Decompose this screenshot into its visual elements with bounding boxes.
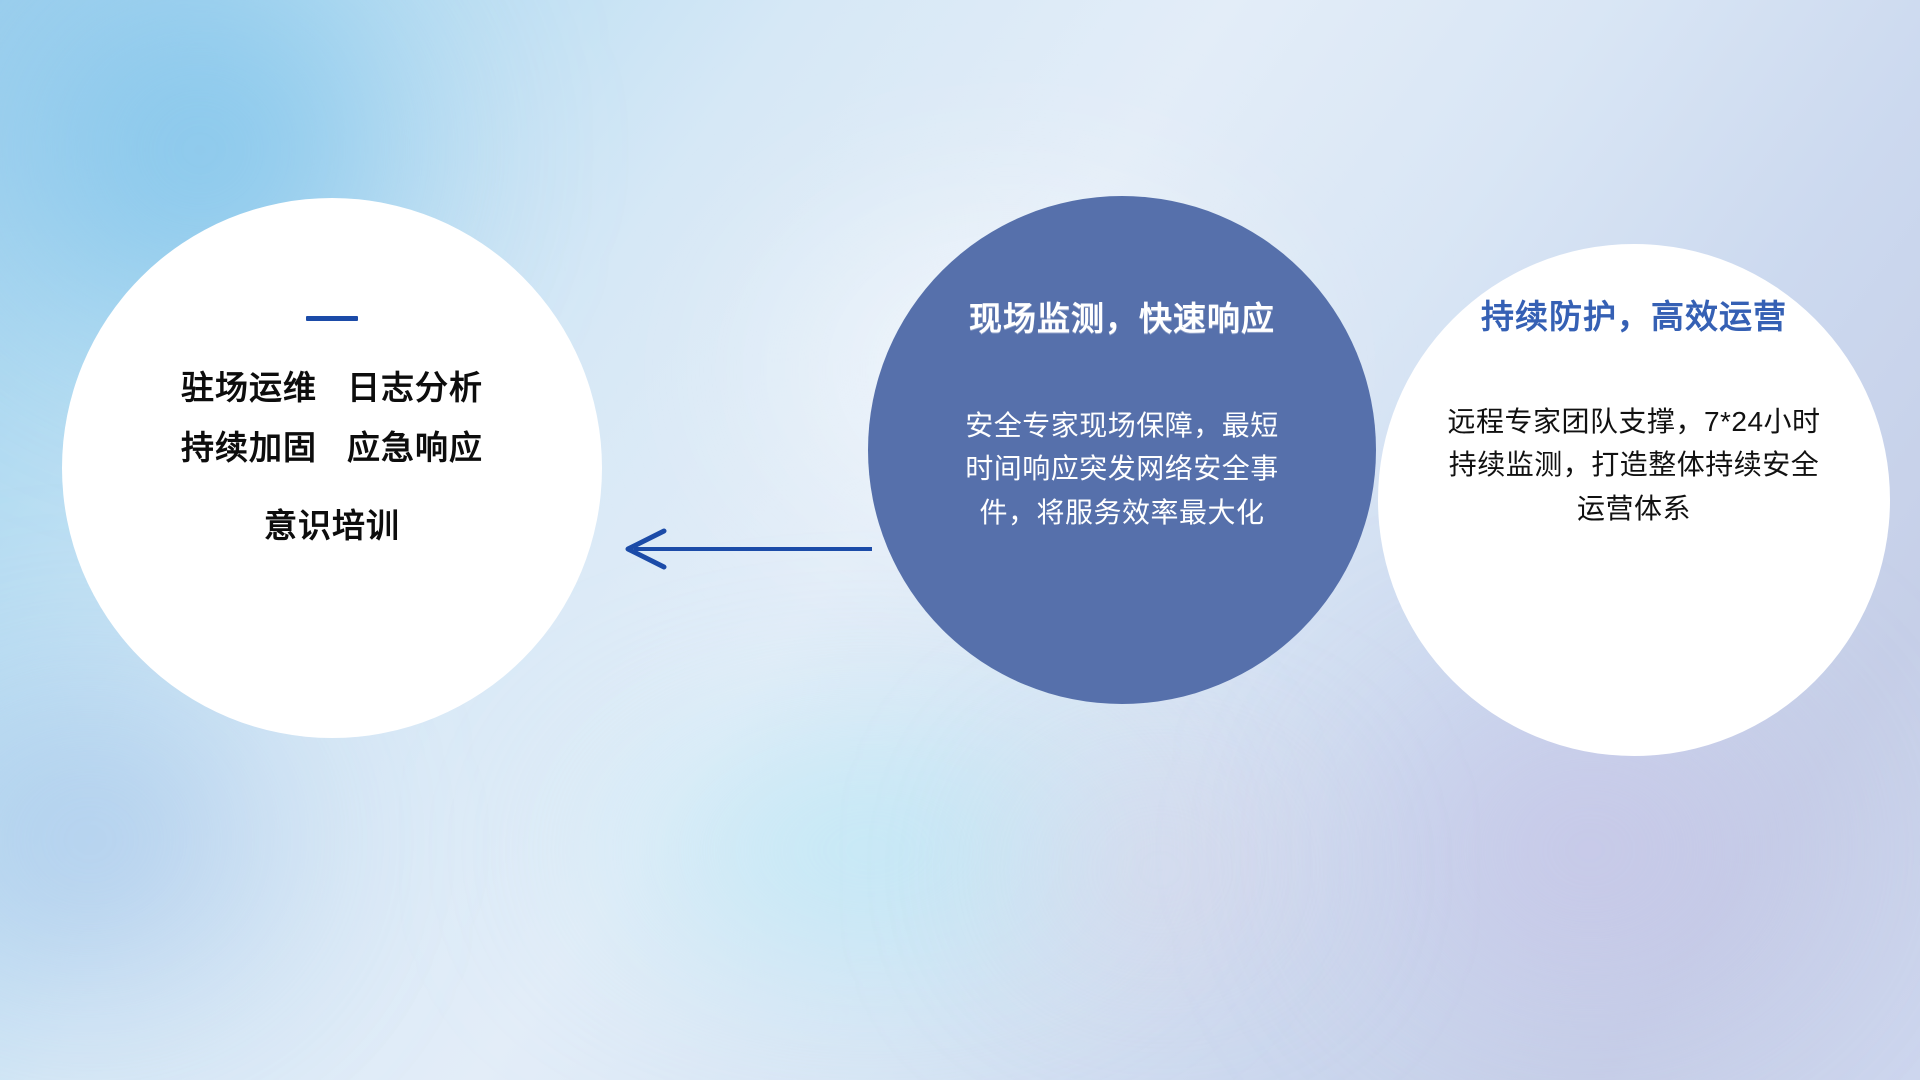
capability-label: 驻场运维 — [181, 369, 317, 406]
continuous-protection-title: 持续防护，高效运营 — [1481, 290, 1787, 338]
capability-label: 应急响应 — [347, 429, 483, 466]
capability-list: 驻场运维日志分析 持续加固应急响应 意识培训 — [181, 369, 483, 545]
onsite-monitoring-body: 安全专家现场保障，最短时间响应突发网络安全事件，将服务效率最大化 — [957, 404, 1287, 534]
onsite-monitoring-circle[interactable]: 现场监测，快速响应 安全专家现场保障，最短时间响应突发网络安全事件，将服务效率最… — [868, 196, 1376, 704]
slide-canvas: 现场监测，快速响应 安全专家现场保障，最短时间响应突发网络安全事件，将服务效率最… — [0, 0, 1920, 1080]
capability-row-3: 意识培训 — [264, 507, 400, 545]
onsite-monitoring-title: 现场监测，快速响应 — [969, 292, 1275, 340]
onsite-capabilities-circle[interactable]: 驻场运维日志分析 持续加固应急响应 意识培训 — [62, 198, 602, 738]
divider-dash-icon — [306, 316, 358, 321]
continuous-protection-circle[interactable]: 持续防护，高效运营 远程专家团队支撑，7*24小时持续监测，打造整体持续安全运营… — [1378, 244, 1890, 756]
capability-row-1: 驻场运维日志分析 — [181, 369, 483, 407]
capability-label: 日志分析 — [347, 369, 483, 406]
continuous-protection-body: 远程专家团队支撑，7*24小时持续监测，打造整体持续安全运营体系 — [1444, 400, 1824, 530]
capability-row-2: 持续加固应急响应 — [181, 429, 483, 467]
capability-label: 持续加固 — [181, 429, 317, 466]
